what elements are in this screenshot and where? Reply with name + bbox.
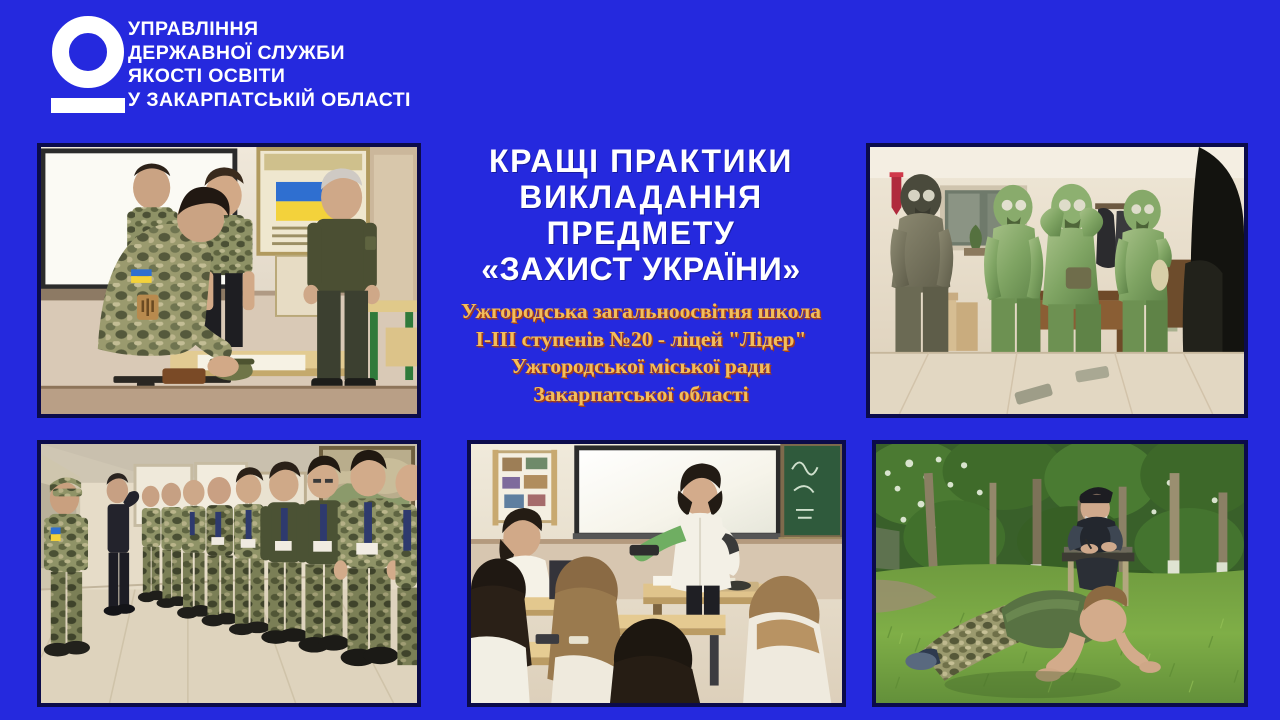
- page-title: КРАЩІ ПРАКТИКИ ВИКЛАДАННЯ ПРЕДМЕТУ «ЗАХИ…: [432, 143, 850, 287]
- organization-logo: [47, 16, 135, 112]
- photo-formation: Шикування учнів у камуфляжній формі в ко…: [37, 440, 421, 707]
- org-line-1: УПРАВЛІННЯ: [128, 18, 411, 42]
- photo-pushups-image: [876, 444, 1244, 703]
- org-line-4: У ЗАКАРПАТСЬКІЙ ОБЛАСТІ: [128, 89, 411, 113]
- photo-formation-image: [41, 444, 417, 703]
- title-line-3: ПРЕДМЕТУ: [432, 215, 850, 251]
- title-line-2: ВИКЛАДАННЯ: [432, 179, 850, 215]
- photo-classroom-image: [471, 444, 842, 703]
- photo-gas-masks-image: [870, 147, 1244, 414]
- presentation-slide: УПРАВЛІННЯ ДЕРЖАВНОЇ СЛУЖБИ ЯКОСТІ ОСВІТ…: [0, 0, 1280, 720]
- slide-center-text: КРАЩІ ПРАКТИКИ ВИКЛАДАННЯ ПРЕДМЕТУ «ЗАХИ…: [432, 143, 850, 408]
- org-line-2: ДЕРЖАВНОЇ СЛУЖБИ: [128, 42, 411, 66]
- organization-name: УПРАВЛІННЯ ДЕРЖАВНОЇ СЛУЖБИ ЯКОСТІ ОСВІТ…: [128, 18, 411, 112]
- subtitle-line-3: Ужгородської міської ради: [432, 353, 850, 381]
- photo-rifle-lesson: Учні у військовій формі біля парти розби…: [37, 143, 421, 418]
- slide-header: УПРАВЛІННЯ ДЕРЖАВНОЇ СЛУЖБИ ЯКОСТІ ОСВІТ…: [0, 0, 1280, 130]
- photo-gas-masks: Учні у зелених захисних костюмах та прот…: [866, 143, 1248, 418]
- photo-pushups: Учень віджимається на траві, екзаменатор…: [872, 440, 1248, 707]
- subtitle-line-1: Ужгородська загальноосвітня школа: [432, 298, 850, 326]
- subtitle-line-4: Закарпатської області: [432, 381, 850, 409]
- bar-icon: [51, 98, 125, 113]
- title-line-1: КРАЩІ ПРАКТИКИ: [432, 143, 850, 179]
- photo-classroom: Урок у класі: вчителька демонструє засоб…: [467, 440, 846, 707]
- subtitle-line-2: I-III ступенів №20 - ліцей "Лідер": [432, 326, 850, 354]
- org-line-3: ЯКОСТІ ОСВІТИ: [128, 65, 411, 89]
- school-subtitle: Ужгородська загальноосвітня школа I-III …: [432, 298, 850, 408]
- photo-rifle-lesson-image: [41, 147, 417, 414]
- ring-icon: [52, 16, 124, 88]
- title-line-4: «ЗАХИСТ УКРАЇНИ»: [432, 251, 850, 287]
